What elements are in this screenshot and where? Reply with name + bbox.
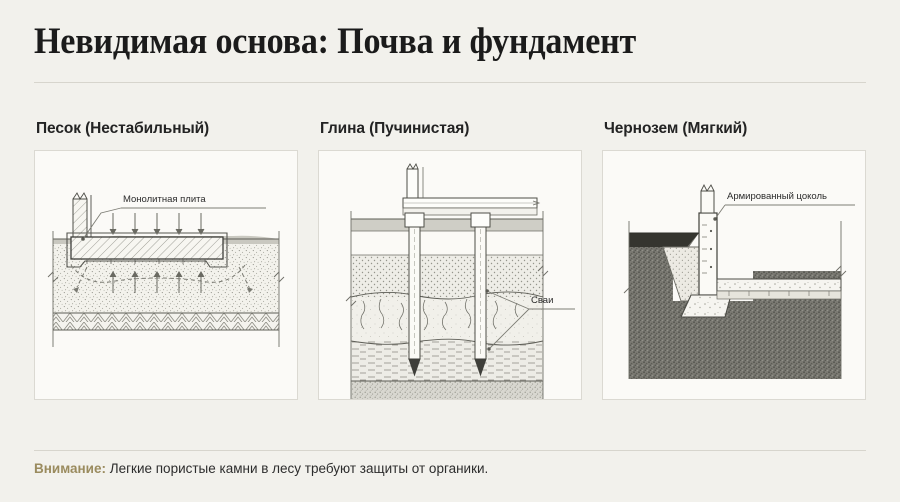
column-heading-chernozem: Чернозем (Мягкий) (604, 120, 866, 138)
column-heading-clay: Глина (Пучинистая) (320, 120, 582, 138)
callout-label-slab: Монолитная плита (123, 194, 206, 205)
bedrock-layer (53, 313, 279, 330)
diagram-panel-chernozem[interactable]: Армированный цоколь (602, 150, 866, 400)
callout-label-plinth: Армированный цоколь (727, 191, 827, 202)
callout-monolithic-slab: Монолитная плита (81, 194, 266, 241)
column-chernozem: Чернозем (Мягкий) (602, 120, 866, 400)
grade-beam (403, 198, 539, 215)
chernozem-soil-mass (629, 233, 841, 379)
callout-label-piles: Сваи (531, 295, 553, 306)
diagram-panel-clay[interactable]: Сваи (318, 150, 582, 400)
interior-floor-slab (717, 279, 841, 299)
title-divider (34, 82, 866, 83)
footer-divider (34, 450, 866, 451)
column-clay: Глина (Пучинистая) (318, 120, 582, 400)
column-heading-sand: Песок (Нестабильный) (36, 120, 298, 138)
page-title: Невидимая основа: Почва и фундамент (34, 20, 636, 63)
column-stub (407, 164, 423, 198)
slide-root: Невидимая основа: Почва и фундамент Песо… (0, 0, 900, 502)
diagram-columns: Песок (Нестабильный) (34, 120, 866, 400)
column-above-plinth (701, 185, 714, 213)
footer-note: Внимание: Легкие пористые камни в лесу т… (34, 461, 488, 476)
callout-reinforced-plinth: Армированный цоколь (713, 191, 855, 221)
warning-label: Внимание: (34, 461, 106, 476)
load-arrows-down (110, 213, 204, 234)
warning-text: Легкие пористые камни в лесу требуют защ… (110, 461, 489, 476)
column-sand: Песок (Нестабильный) (34, 120, 298, 400)
diagram-panel-sand[interactable]: Монолитная плита (34, 150, 298, 400)
reinforced-plinth-wall (699, 213, 717, 295)
